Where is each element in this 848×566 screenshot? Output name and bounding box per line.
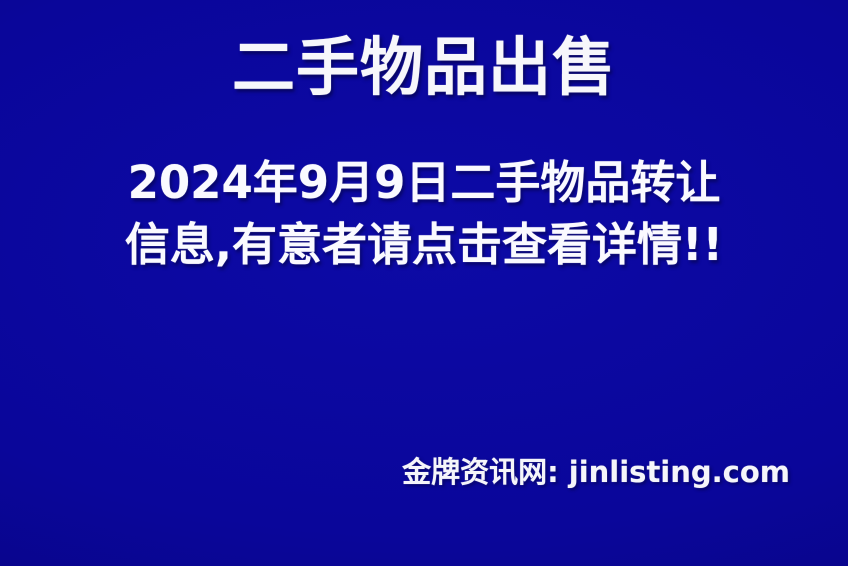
page-title: 二手物品出售 bbox=[0, 34, 848, 102]
watermark-text: 金牌资讯网: jinlisting.com bbox=[402, 455, 790, 489]
announcement-body: 2024年9月9日二手物品转让 信息,有意者请点击查看详情!! bbox=[0, 152, 848, 276]
announcement-line-1: 2024年9月9日二手物品转让 bbox=[0, 152, 848, 214]
watermark: 金牌资讯网: jinlisting.com bbox=[402, 455, 790, 489]
announcement-line-2: 信息,有意者请点击查看详情!! bbox=[0, 214, 848, 276]
poster-canvas: 二手物品出售 2024年9月9日二手物品转让 信息,有意者请点击查看详情!! 金… bbox=[0, 0, 848, 566]
